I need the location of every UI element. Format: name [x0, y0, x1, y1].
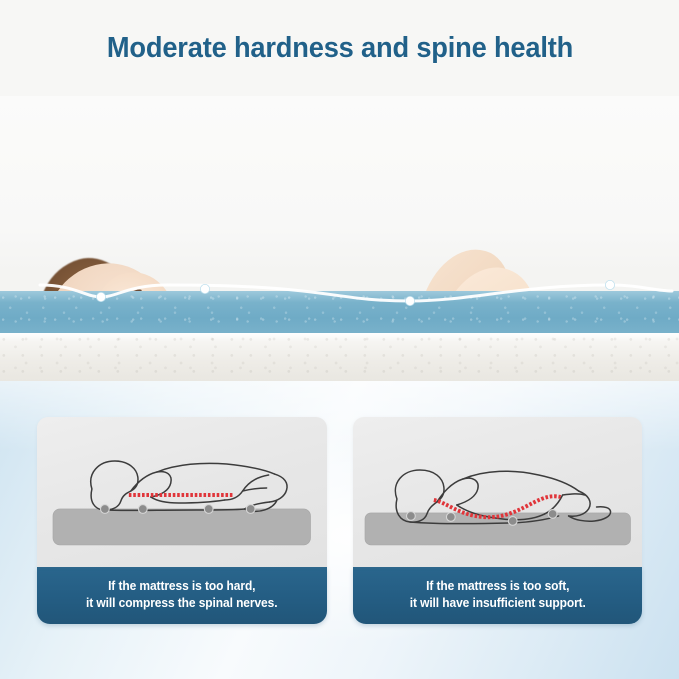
baby-on-soft-mattress-icon [353, 417, 643, 567]
too-hard-caption-banner: If the mattress is too hard, it will com… [37, 567, 327, 624]
too-hard-panel: If the mattress is too hard, it will com… [37, 417, 327, 679]
header-bar: Moderate hardness and spine health [0, 0, 679, 96]
too-soft-illustration-card [353, 417, 643, 567]
hero-photo [0, 96, 679, 381]
too-hard-illustration-card [37, 417, 327, 567]
baby-on-hard-mattress-icon [37, 417, 327, 567]
too-soft-caption-banner: If the mattress is too soft, it will hav… [353, 567, 643, 624]
page-title: Moderate hardness and spine health [106, 32, 572, 65]
too-hard-caption-line-2: it will compress the spinal nerves. [50, 595, 313, 612]
mattress-white-layer [0, 333, 679, 381]
too-hard-caption-line-1: If the mattress is too hard, [50, 578, 313, 595]
product-infographic-page: Moderate hardness and spine health [0, 0, 679, 679]
too-soft-caption-line-2: it will have insufficient support. [366, 595, 629, 612]
comparison-section: If the mattress is too hard, it will com… [0, 381, 679, 679]
too-soft-caption-line-1: If the mattress is too soft, [366, 578, 629, 595]
comparison-panels: If the mattress is too hard, it will com… [0, 381, 679, 679]
too-soft-panel: If the mattress is too soft, it will hav… [353, 417, 643, 679]
mattress-support-wave-line [0, 277, 679, 311]
